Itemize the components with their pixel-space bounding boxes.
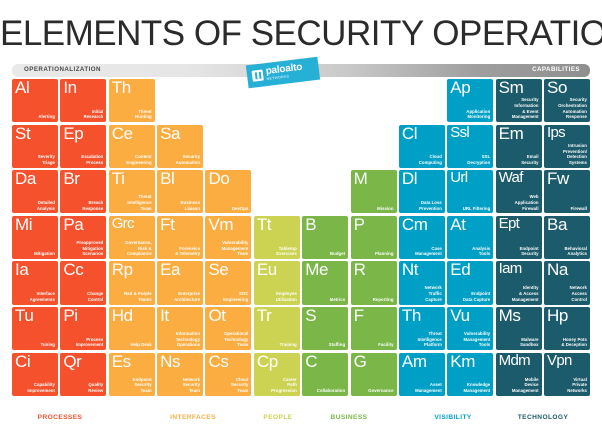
element-tile-ea[interactable]: EaEnterpriseArchitecture [157, 261, 203, 304]
element-name: Firewall [571, 206, 587, 212]
element-tile-qr[interactable]: QrQualityReview [60, 353, 106, 396]
element-tile-ia[interactable]: IaInterfaceAgreements [12, 261, 58, 304]
element-symbol: It [160, 307, 169, 326]
element-name: Staffing [329, 342, 345, 348]
element-name: DetailedAnalysis [37, 200, 55, 211]
element-name: Mission [377, 206, 393, 212]
element-name: VirtualPrivateNetworks [567, 377, 587, 394]
element-symbol: Ia [15, 261, 28, 280]
element-name: QualityReview [88, 382, 103, 393]
element-symbol: Ot [208, 307, 225, 326]
element-name: IntrusionPrevention/DetectionSystems [563, 143, 587, 166]
category-label-interfaces: INTERFACES [170, 414, 216, 421]
element-tile-ns[interactable]: NsNetworkSecurityTeam [157, 353, 203, 396]
element-tile-ci[interactable]: CiCapabilityImprovement [12, 353, 58, 396]
element-tile-th[interactable]: ThThreatHunting [109, 79, 155, 122]
element-symbol: Ep [63, 125, 83, 144]
element-symbol: Hp [547, 307, 568, 326]
element-tile-mi[interactable]: MiMitigation [12, 216, 58, 259]
element-name: ContentEngineering [126, 154, 151, 165]
element-symbol: Sa [160, 125, 180, 144]
element-symbol: Cm [402, 216, 428, 235]
element-tile-at[interactable]: AtAnalysisTools [447, 216, 493, 259]
element-symbol: Am [402, 353, 427, 372]
element-name: ThreatIntelligencePlatform [418, 331, 442, 348]
element-name: Forensics& Telemetry [175, 246, 200, 257]
element-tile-ot[interactable]: OtOperationalTechnologyTeam [205, 307, 251, 350]
element-name: Identity& AccessManagement [512, 285, 539, 302]
element-tile-so[interactable]: SoSecurityOrchestrationAutomationRespons… [544, 79, 590, 122]
element-symbol: F [354, 307, 364, 326]
element-tile-ssl[interactable]: SslSSLDecryption [447, 125, 493, 168]
element-name: CareerPathProgression [271, 377, 297, 394]
element-tile-ft[interactable]: FtForensics& Telemetry [157, 216, 203, 259]
element-symbol: Es [112, 353, 131, 372]
element-name: CloudSecurityTeam [231, 377, 248, 394]
element-name: SecurityInformation& EventManagement [512, 97, 539, 120]
element-symbol: Ba [547, 216, 567, 235]
element-tile-cm[interactable]: CmCaseManagement [399, 216, 445, 259]
element-name: NetworkTrafficCapture [425, 285, 442, 302]
element-name: Budget [330, 251, 345, 257]
element-symbol: So [547, 79, 567, 98]
element-symbol: C [305, 353, 317, 372]
element-symbol: Qr [63, 353, 81, 372]
element-tile-do[interactable]: DoDevOps [205, 170, 251, 213]
element-symbol: Cp [257, 353, 278, 372]
element-symbol: Th [402, 307, 421, 326]
element-symbol: At [450, 216, 465, 235]
element-tile-na[interactable]: NaNetworkAccessControl [544, 261, 590, 304]
element-tile-br[interactable]: BrBreachResponse [60, 170, 106, 213]
element-tile-it[interactable]: ItInformationTechnologyOperations [157, 307, 203, 350]
element-name: SSLDecryption [467, 154, 490, 165]
element-name: BehavioralAnalytics [565, 246, 587, 257]
element-name: Data LossPrevention [419, 200, 442, 211]
element-name: ThreatHunting [135, 109, 152, 120]
element-symbol: Iam [499, 261, 522, 278]
band-label-operationalization: OPERATIONALIZATION [24, 66, 101, 73]
element-name: Planning [375, 251, 394, 257]
element-tile-vu[interactable]: VuVulnerabilityManagementTools [447, 307, 493, 350]
element-symbol: Ms [499, 307, 521, 326]
element-symbol: Tt [257, 216, 271, 235]
element-tile-f[interactable]: FFacility [351, 307, 397, 350]
element-tile-iam[interactable]: IamIdentity& AccessManagement [496, 261, 542, 304]
elements-grid: AlAlertingInInitialResearchThThreatHunti… [12, 79, 590, 399]
element-name: Red & PurpleTeams [124, 291, 152, 302]
element-tile-grc[interactable]: GrcGovernance,Risk &Compliance [109, 216, 155, 259]
element-name: Collaboration [317, 388, 345, 394]
element-symbol: Fw [547, 170, 569, 189]
element-symbol: Ed [450, 261, 470, 280]
element-symbol: St [15, 125, 30, 144]
element-tile-cl[interactable]: ClCloudComputing [399, 125, 445, 168]
element-name: EnterpriseArchitecture [174, 291, 200, 302]
element-symbol: Mi [15, 216, 32, 235]
element-tile-vm[interactable]: VmVulnerabilityManagementTeam [205, 216, 251, 259]
element-symbol: Waf [499, 170, 523, 187]
element-tile-cc[interactable]: CcChangeControl [60, 261, 106, 304]
element-symbol: R [354, 261, 366, 280]
element-name: SeverityTriage [38, 154, 55, 165]
element-tile-al[interactable]: AlAlerting [12, 79, 58, 122]
element-tile-eu[interactable]: EuEmployeeUtilization [254, 261, 300, 304]
element-name: Training [280, 342, 297, 348]
element-tile-pi[interactable]: PiProcessImprovement [60, 307, 106, 350]
element-symbol: Me [305, 261, 328, 280]
element-symbol: Mdm [499, 353, 530, 370]
element-symbol: B [305, 216, 316, 235]
element-tile-pa[interactable]: PaPreapprovedMitigationScenarios [60, 216, 106, 259]
element-tile-sm[interactable]: SmSecurityInformation& EventManagement [496, 79, 542, 122]
element-name: InformationTechnologyOperations [176, 331, 200, 348]
element-name: Honey Pots& Deception [561, 337, 587, 348]
element-tile-km[interactable]: KmKnowledgeManagement [447, 353, 493, 396]
element-symbol: Em [499, 125, 524, 144]
element-name: EndpointSecurity [520, 246, 539, 257]
page-title: ELEMENTS OF SECURITY OPERATIONS [0, 14, 602, 54]
element-name: EmployeeUtilization [276, 291, 297, 302]
element-name: EndpointSecurityTeam [133, 377, 152, 394]
category-label-visibility: VISIBILITY [434, 414, 471, 421]
element-symbol: Ti [112, 170, 125, 189]
element-symbol: M [354, 170, 368, 189]
element-tile-bl[interactable]: BlBusinessLiaison [157, 170, 203, 213]
element-name: AnalysisTools [472, 246, 490, 257]
element-symbol: Ce [112, 125, 133, 144]
element-tile-m[interactable]: MMission [351, 170, 397, 213]
element-tile-b[interactable]: BBudget [302, 216, 348, 259]
element-name: Help Desk [130, 342, 151, 348]
element-tile-ep[interactable]: EpEscalationProcess [60, 125, 106, 168]
element-tile-hd[interactable]: HdHelp Desk [109, 307, 155, 350]
element-symbol: Rp [112, 261, 133, 280]
element-symbol: G [354, 353, 367, 372]
element-symbol: Ips [547, 125, 565, 142]
element-name: SecurityAutomation [176, 154, 200, 165]
element-name: ChangeControl [87, 291, 103, 302]
element-symbol: Tu [15, 307, 33, 326]
element-name: VulnerabilityManagementTeam [222, 240, 249, 257]
element-name: InitialResearch [84, 109, 104, 120]
element-name: ApplicationMonitoring [466, 109, 490, 120]
category-label-business: BUSINESS [331, 414, 368, 421]
element-tile-url[interactable]: UrlURL Filtering [447, 170, 493, 213]
category-label-technology: TECHNOLOGY [518, 414, 569, 421]
element-tile-me[interactable]: MeMetrics [302, 261, 348, 304]
element-tile-waf[interactable]: WafWebApplicationFirewall [496, 170, 542, 213]
element-tile-th[interactable]: ThThreatIntelligencePlatform [399, 307, 445, 350]
element-symbol: Do [208, 170, 229, 189]
element-tile-fw[interactable]: FwFirewall [544, 170, 590, 213]
element-symbol: Km [450, 353, 475, 372]
element-tile-hp[interactable]: HpHoney Pots& Deception [544, 307, 590, 350]
element-name: NetworkAccessControl [570, 285, 587, 302]
element-name: BreachResponse [82, 200, 103, 211]
element-symbol: Tr [257, 307, 272, 326]
element-name: WebApplicationFirewall [515, 194, 539, 211]
element-name: Governance [368, 388, 393, 394]
element-symbol: Ap [450, 79, 470, 98]
element-symbol: Cs [208, 353, 228, 372]
element-tile-mdm[interactable]: MdmMobileDeviceManagement [496, 353, 542, 396]
element-tile-in[interactable]: InInitialResearch [60, 79, 106, 122]
element-tile-em[interactable]: EmEmailSecurity [496, 125, 542, 168]
element-name: TabletopExercises [276, 246, 297, 257]
element-symbol: Hd [112, 307, 133, 326]
element-tile-tu[interactable]: TuTuning [12, 307, 58, 350]
element-symbol: Da [15, 170, 36, 189]
element-name: DevOps [232, 206, 249, 212]
element-name: Reporting [373, 297, 394, 303]
element-symbol: Cl [402, 125, 417, 144]
band-label-capabilities: CAPABILITIES [532, 66, 580, 73]
element-tile-s[interactable]: SStaffing [302, 307, 348, 350]
element-tile-ept[interactable]: EptEndpointSecurity [496, 216, 542, 259]
element-symbol: Pa [63, 216, 83, 235]
element-name: KnowledgeManagement [463, 382, 490, 393]
category-label-people: PEOPLE [263, 414, 292, 421]
element-tile-nt[interactable]: NtNetworkTrafficCapture [399, 261, 445, 304]
element-name: EscalationProcess [81, 154, 103, 165]
element-name: Metrics [330, 297, 345, 303]
element-name: ThreatIntelligenceTeam [127, 194, 151, 211]
element-symbol: Nt [402, 261, 418, 280]
element-tile-se[interactable]: SeSOCEngineering [205, 261, 251, 304]
element-tile-tt[interactable]: TtTabletopExercises [254, 216, 300, 259]
element-symbol: Ssl [450, 125, 469, 142]
element-symbol: Al [15, 79, 29, 98]
element-tile-am[interactable]: AmAssetManagement [399, 353, 445, 396]
element-tile-ed[interactable]: EdEndpointData Capture [447, 261, 493, 304]
element-name: PreapprovedMitigationScenarios [76, 240, 103, 257]
element-tile-da[interactable]: DaDetailedAnalysis [12, 170, 58, 213]
element-symbol: Sm [499, 79, 524, 98]
element-tile-ba[interactable]: BaBehavioralAnalytics [544, 216, 590, 259]
element-tile-ap[interactable]: ApApplicationMonitoring [447, 79, 493, 122]
element-tile-dl[interactable]: DlData LossPrevention [399, 170, 445, 213]
element-name: CloudComputing [419, 154, 442, 165]
element-symbol: Pi [63, 307, 77, 326]
element-name: MalwareSandbox [520, 337, 539, 348]
element-symbol: Vm [208, 216, 233, 235]
element-name: SecurityOrchestrationAutomationResponse [558, 97, 587, 120]
element-symbol: In [63, 79, 76, 98]
element-name: OperationalTechnologyTeam [224, 331, 248, 348]
element-name: Alerting [38, 114, 55, 120]
element-symbol: Ea [160, 261, 180, 280]
element-name: Facility [378, 342, 393, 348]
element-name: EndpointData Capture [463, 291, 490, 302]
element-symbol: Ci [15, 353, 30, 372]
element-name: URL Filtering [463, 206, 491, 212]
element-tile-vpn[interactable]: VpnVirtualPrivateNetworks [544, 353, 590, 396]
element-name: Mitigation [34, 251, 55, 257]
element-name: Governance,Risk &Compliance [125, 240, 152, 257]
element-tile-cp[interactable]: CpCareerPathProgression [254, 353, 300, 396]
element-tile-tr[interactable]: TrTraining [254, 307, 300, 350]
element-symbol: Vu [450, 307, 469, 326]
element-name: BusinessLiaison [181, 200, 201, 211]
element-name: SOCEngineering [223, 291, 248, 302]
element-tile-g[interactable]: GGovernance [351, 353, 397, 396]
element-name: VulnerabilityManagementTools [463, 331, 490, 348]
element-tile-c[interactable]: CCollaboration [302, 353, 348, 396]
element-tile-es[interactable]: EsEndpointSecurityTeam [109, 353, 155, 396]
element-symbol: Eu [257, 261, 277, 280]
element-symbol: P [354, 216, 365, 235]
element-name: MobileDeviceManagement [512, 377, 539, 394]
element-tile-cs[interactable]: CsCloudSecurityTeam [205, 353, 251, 396]
element-name: EmailSecurity [521, 154, 538, 165]
element-symbol: Na [547, 261, 568, 280]
element-name: InterfaceAgreements [30, 291, 55, 302]
element-tile-st[interactable]: StSeverityTriage [12, 125, 58, 168]
element-symbol: Ns [160, 353, 180, 372]
element-name: CaseManagement [415, 246, 442, 257]
element-tile-rp[interactable]: RpRed & PurpleTeams [109, 261, 155, 304]
element-tile-r[interactable]: RReporting [351, 261, 397, 304]
element-symbol: Ft [160, 216, 174, 235]
element-name: CapabilityImprovement [27, 382, 55, 393]
element-tile-ms[interactable]: MsMalwareSandbox [496, 307, 542, 350]
element-symbol: Th [112, 79, 131, 98]
element-tile-p[interactable]: PPlanning [351, 216, 397, 259]
element-name: Tuning [41, 342, 55, 348]
element-tile-ips[interactable]: IpsIntrusionPrevention/DetectionSystems [544, 125, 590, 168]
element-symbol: Url [450, 170, 467, 187]
element-name: ProcessImprovement [76, 337, 104, 348]
element-tile-ce[interactable]: CeContentEngineering [109, 125, 155, 168]
element-tile-ti[interactable]: TiThreatIntelligenceTeam [109, 170, 155, 213]
element-symbol: Bl [160, 170, 174, 189]
element-tile-sa[interactable]: SaSecurityAutomation [157, 125, 203, 168]
element-name: AssetManagement [415, 382, 442, 393]
element-symbol: Se [208, 261, 228, 280]
element-symbol: Br [63, 170, 79, 189]
element-symbol: Dl [402, 170, 417, 189]
element-name: NetworkSecurityTeam [183, 377, 200, 394]
element-symbol: Vpn [547, 353, 572, 370]
element-symbol: Ept [499, 216, 519, 233]
element-symbol: Grc [112, 216, 134, 233]
element-symbol: Cc [63, 261, 83, 280]
element-symbol: S [305, 307, 316, 326]
category-label-processes: PROCESSES [38, 414, 83, 421]
